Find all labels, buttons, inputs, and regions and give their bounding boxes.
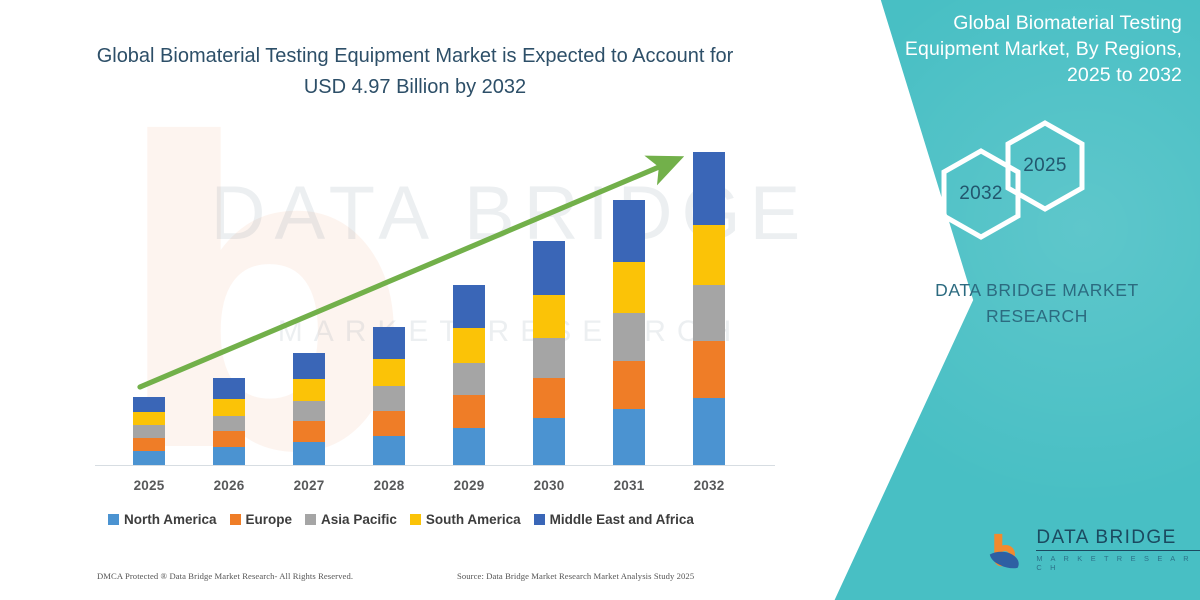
bar-segment[interactable]	[533, 418, 565, 465]
legend-label: Middle East and Africa	[550, 512, 694, 527]
legend-label: North America	[124, 512, 217, 527]
x-axis-label-2029: 2029	[434, 478, 504, 493]
x-axis-label-2032: 2032	[674, 478, 744, 493]
bar-2030[interactable]	[533, 241, 565, 465]
bar-segment[interactable]	[373, 411, 405, 436]
bar-segment[interactable]	[693, 341, 725, 398]
bar-segment[interactable]	[613, 409, 645, 465]
chart-legend: North AmericaEuropeAsia PacificSouth Ame…	[108, 512, 694, 527]
bar-segment[interactable]	[373, 436, 405, 465]
bar-segment[interactable]	[453, 428, 485, 465]
footer-source-text: Source: Data Bridge Market Research Mark…	[457, 571, 694, 581]
bar-segment[interactable]	[613, 361, 645, 409]
axis-baseline	[95, 465, 775, 466]
bar-segment[interactable]	[693, 285, 725, 341]
bar-segment[interactable]	[613, 200, 645, 262]
bar-segment[interactable]	[293, 401, 325, 421]
bar-segment[interactable]	[133, 438, 165, 451]
bar-segment[interactable]	[213, 447, 245, 465]
x-axis-label-2026: 2026	[194, 478, 264, 493]
panel-brand-text: DATA BRIDGE MARKET RESEARCH	[892, 277, 1182, 329]
legend-swatch-icon	[534, 514, 545, 525]
bar-2027[interactable]	[293, 353, 325, 465]
bar-segment[interactable]	[293, 353, 325, 379]
bar-2026[interactable]	[213, 378, 245, 465]
x-axis-label-2028: 2028	[354, 478, 424, 493]
brand-logo: DATA BRIDGE M A R K E T R E S E A R C H	[988, 527, 1200, 572]
bar-segment[interactable]	[453, 285, 485, 328]
bar-segment[interactable]	[293, 379, 325, 401]
bar-2031[interactable]	[613, 200, 645, 465]
bar-segment[interactable]	[293, 442, 325, 465]
bar-segment[interactable]	[133, 412, 165, 425]
bar-segment[interactable]	[533, 295, 565, 338]
legend-swatch-icon	[305, 514, 316, 525]
hexagon-badge-2025: 2025	[1002, 118, 1088, 214]
legend-swatch-icon	[108, 514, 119, 525]
legend-swatch-icon	[410, 514, 421, 525]
legend-item-south-america[interactable]: South America	[410, 512, 521, 527]
x-axis-label-2031: 2031	[594, 478, 664, 493]
x-axis-label-2030: 2030	[514, 478, 584, 493]
bar-segment[interactable]	[373, 386, 405, 411]
infographic-root: b DATA BRIDGE MARKET RESEARCH Global Bio…	[0, 0, 1200, 600]
bar-segment[interactable]	[373, 359, 405, 386]
bar-segment[interactable]	[533, 378, 565, 418]
legend-item-asia-pacific[interactable]: Asia Pacific	[305, 512, 397, 527]
data-bridge-logo-icon	[988, 529, 1027, 571]
legend-item-north-america[interactable]: North America	[108, 512, 217, 527]
logo-main-text: DATA BRIDGE	[1036, 527, 1200, 551]
legend-item-europe[interactable]: Europe	[230, 512, 293, 527]
bar-segment[interactable]	[533, 338, 565, 378]
bar-segment[interactable]	[453, 395, 485, 428]
bar-segment[interactable]	[133, 397, 165, 412]
bar-2029[interactable]	[453, 285, 485, 465]
legend-label: Asia Pacific	[321, 512, 397, 527]
bar-segment[interactable]	[453, 363, 485, 395]
logo-sub-text: M A R K E T R E S E A R C H	[1036, 554, 1200, 572]
bar-segment[interactable]	[133, 451, 165, 465]
x-axis-label-2025: 2025	[114, 478, 184, 493]
legend-item-middle-east-and-africa[interactable]: Middle East and Africa	[534, 512, 694, 527]
bar-segment[interactable]	[213, 399, 245, 416]
bar-segment[interactable]	[693, 225, 725, 285]
bar-segment[interactable]	[213, 416, 245, 431]
bar-segment[interactable]	[373, 327, 405, 359]
hexagon-label-2032: 2032	[959, 183, 1002, 205]
bar-segment[interactable]	[533, 241, 565, 295]
bar-segment[interactable]	[693, 398, 725, 465]
bar-segment[interactable]	[133, 425, 165, 438]
legend-label: Europe	[246, 512, 293, 527]
bar-segment[interactable]	[453, 328, 485, 363]
legend-label: South America	[426, 512, 521, 527]
bar-segment[interactable]	[293, 421, 325, 442]
bar-2028[interactable]	[373, 327, 405, 465]
bar-segment[interactable]	[693, 152, 725, 225]
bar-2025[interactable]	[133, 397, 165, 465]
panel-title: Global Biomaterial Testing Equipment Mar…	[892, 10, 1182, 88]
bar-segment[interactable]	[613, 262, 645, 313]
footer-dmca-text: DMCA Protected ® Data Bridge Market Rese…	[97, 571, 353, 581]
bar-segment[interactable]	[213, 378, 245, 399]
bar-segment[interactable]	[613, 313, 645, 361]
legend-swatch-icon	[230, 514, 241, 525]
hexagon-label-2025: 2025	[1023, 155, 1066, 177]
bar-2032[interactable]	[693, 152, 725, 465]
chart-area: b DATA BRIDGE MARKET RESEARCH Global Bio…	[0, 0, 880, 600]
bar-segment[interactable]	[213, 431, 245, 447]
stacked-bar-chart: 20252026202720282029203020312032	[0, 0, 880, 600]
x-axis-label-2027: 2027	[274, 478, 344, 493]
